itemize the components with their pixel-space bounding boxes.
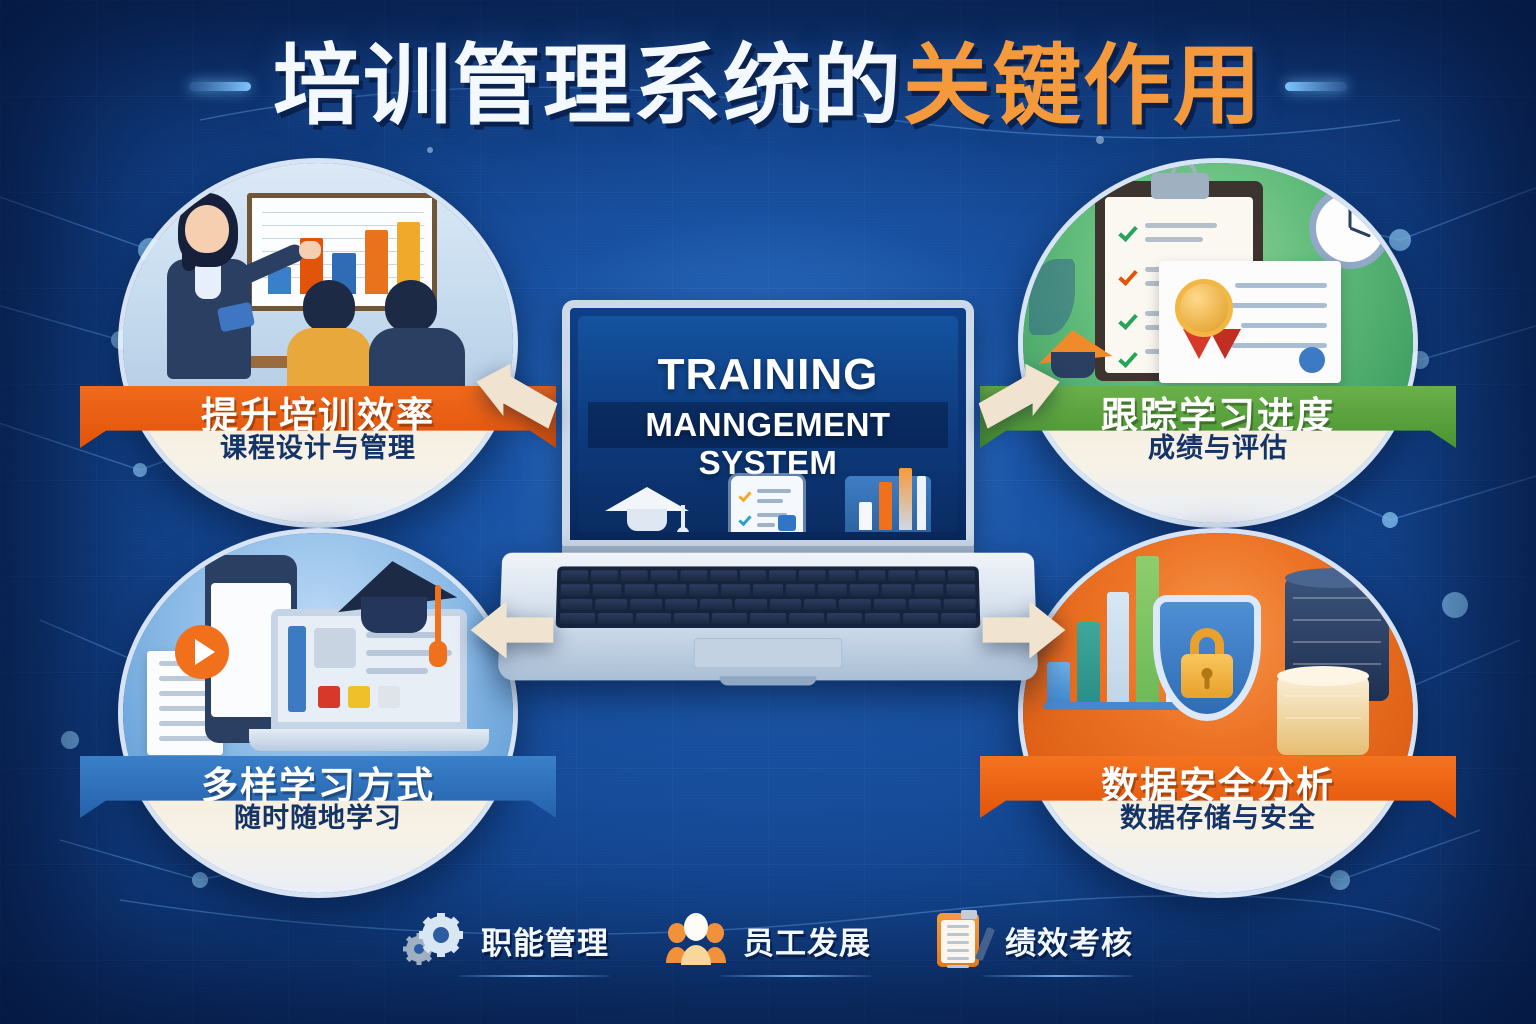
laptop-notch xyxy=(720,676,817,685)
title-white-text: 培训管理系统的 xyxy=(273,36,903,135)
card-disc: 成绩与评估 xyxy=(1018,158,1418,528)
feature-item-role-management[interactable]: 职能管理 xyxy=(403,911,609,977)
graduation-cap-icon xyxy=(605,481,689,532)
graduation-cap-base xyxy=(361,597,427,633)
card-subtitle: 课程设计与管理 xyxy=(123,426,513,465)
infographic-canvas: 培训管理系统的关键作用 xyxy=(0,0,1536,1024)
feature-item-performance-review[interactable]: 绩效考核 xyxy=(927,911,1133,977)
clock-handle xyxy=(1337,169,1365,185)
card-illustration-devices xyxy=(123,533,513,760)
card-illustration-data-security xyxy=(1023,533,1413,760)
instructor-head xyxy=(185,205,229,253)
feature-label: 绩效考核 xyxy=(1005,918,1133,963)
card-track-progress[interactable]: 成绩与评估 跟踪学习进度 xyxy=(1018,158,1418,528)
play-button-icon xyxy=(175,625,229,679)
medal-icon xyxy=(1175,279,1233,337)
laptop-trackpad xyxy=(693,638,842,668)
gear-icon xyxy=(403,911,465,969)
arrow-to-top-left xyxy=(470,362,562,434)
lock-keyhole xyxy=(1202,668,1213,679)
laptop-base xyxy=(249,729,489,751)
instructor-hand xyxy=(299,241,321,259)
bar-chart-icon xyxy=(845,476,931,532)
card-flexible-learning[interactable]: 随时随地学习 多样学习方式 xyxy=(118,528,518,898)
attendee-1 xyxy=(303,280,371,390)
card-disc: 数据存储与安全 xyxy=(1018,528,1418,898)
card-disc: 课程设计与管理 xyxy=(118,158,518,528)
page-title: 培训管理系统的关键作用 xyxy=(0,24,1536,148)
feature-row: 职能管理 员工发展 xyxy=(0,906,1536,982)
certificate-icon xyxy=(1159,261,1341,383)
title-dash-right xyxy=(1285,82,1347,91)
feature-label: 职能管理 xyxy=(481,918,609,963)
central-laptop: TRAINING MANNGEMENT SYSTEM xyxy=(500,300,1036,700)
card-subtitle: 数据存储与安全 xyxy=(1023,796,1413,835)
checklist-icon xyxy=(731,476,803,532)
feature-item-employee-growth[interactable]: 员工发展 xyxy=(665,911,871,977)
database-gold-icon xyxy=(1277,675,1369,755)
laptop-base xyxy=(498,553,1039,681)
screen-title-line1: TRAINING xyxy=(578,350,958,400)
feature-label: 员工发展 xyxy=(743,918,871,963)
card-disc: 随时随地学习 xyxy=(118,528,518,898)
laptop-lid: TRAINING MANNGEMENT SYSTEM xyxy=(562,300,974,548)
people-icon xyxy=(665,911,727,969)
laptop-keyboard xyxy=(556,566,981,628)
stopwatch-icon xyxy=(1309,187,1391,269)
arrow-to-bottom-right xyxy=(978,594,1070,666)
attendee-2 xyxy=(385,280,465,390)
title-dash-left xyxy=(189,82,251,91)
title-orange-text: 关键作用 xyxy=(903,36,1263,135)
screen-icon-row xyxy=(578,468,958,532)
laptop-screen: TRAINING MANNGEMENT SYSTEM xyxy=(578,316,958,532)
card-illustration-classroom xyxy=(123,163,513,390)
card-illustration-assessment xyxy=(1023,163,1413,390)
card-subtitle: 成绩与评估 xyxy=(1023,426,1413,465)
card-subtitle: 随时随地学习 xyxy=(123,796,513,835)
certificate-seal xyxy=(1299,347,1325,373)
tassel-decoration xyxy=(435,585,441,647)
clipboard-pen-icon xyxy=(927,911,989,969)
card-data-security[interactable]: 数据存储与安全 数据安全分析 xyxy=(1018,528,1418,898)
card-improve-training[interactable]: 课程设计与管理 提升培训效率 xyxy=(118,158,518,528)
arrow-to-bottom-left xyxy=(466,594,558,666)
arrow-to-top-right xyxy=(974,362,1066,434)
